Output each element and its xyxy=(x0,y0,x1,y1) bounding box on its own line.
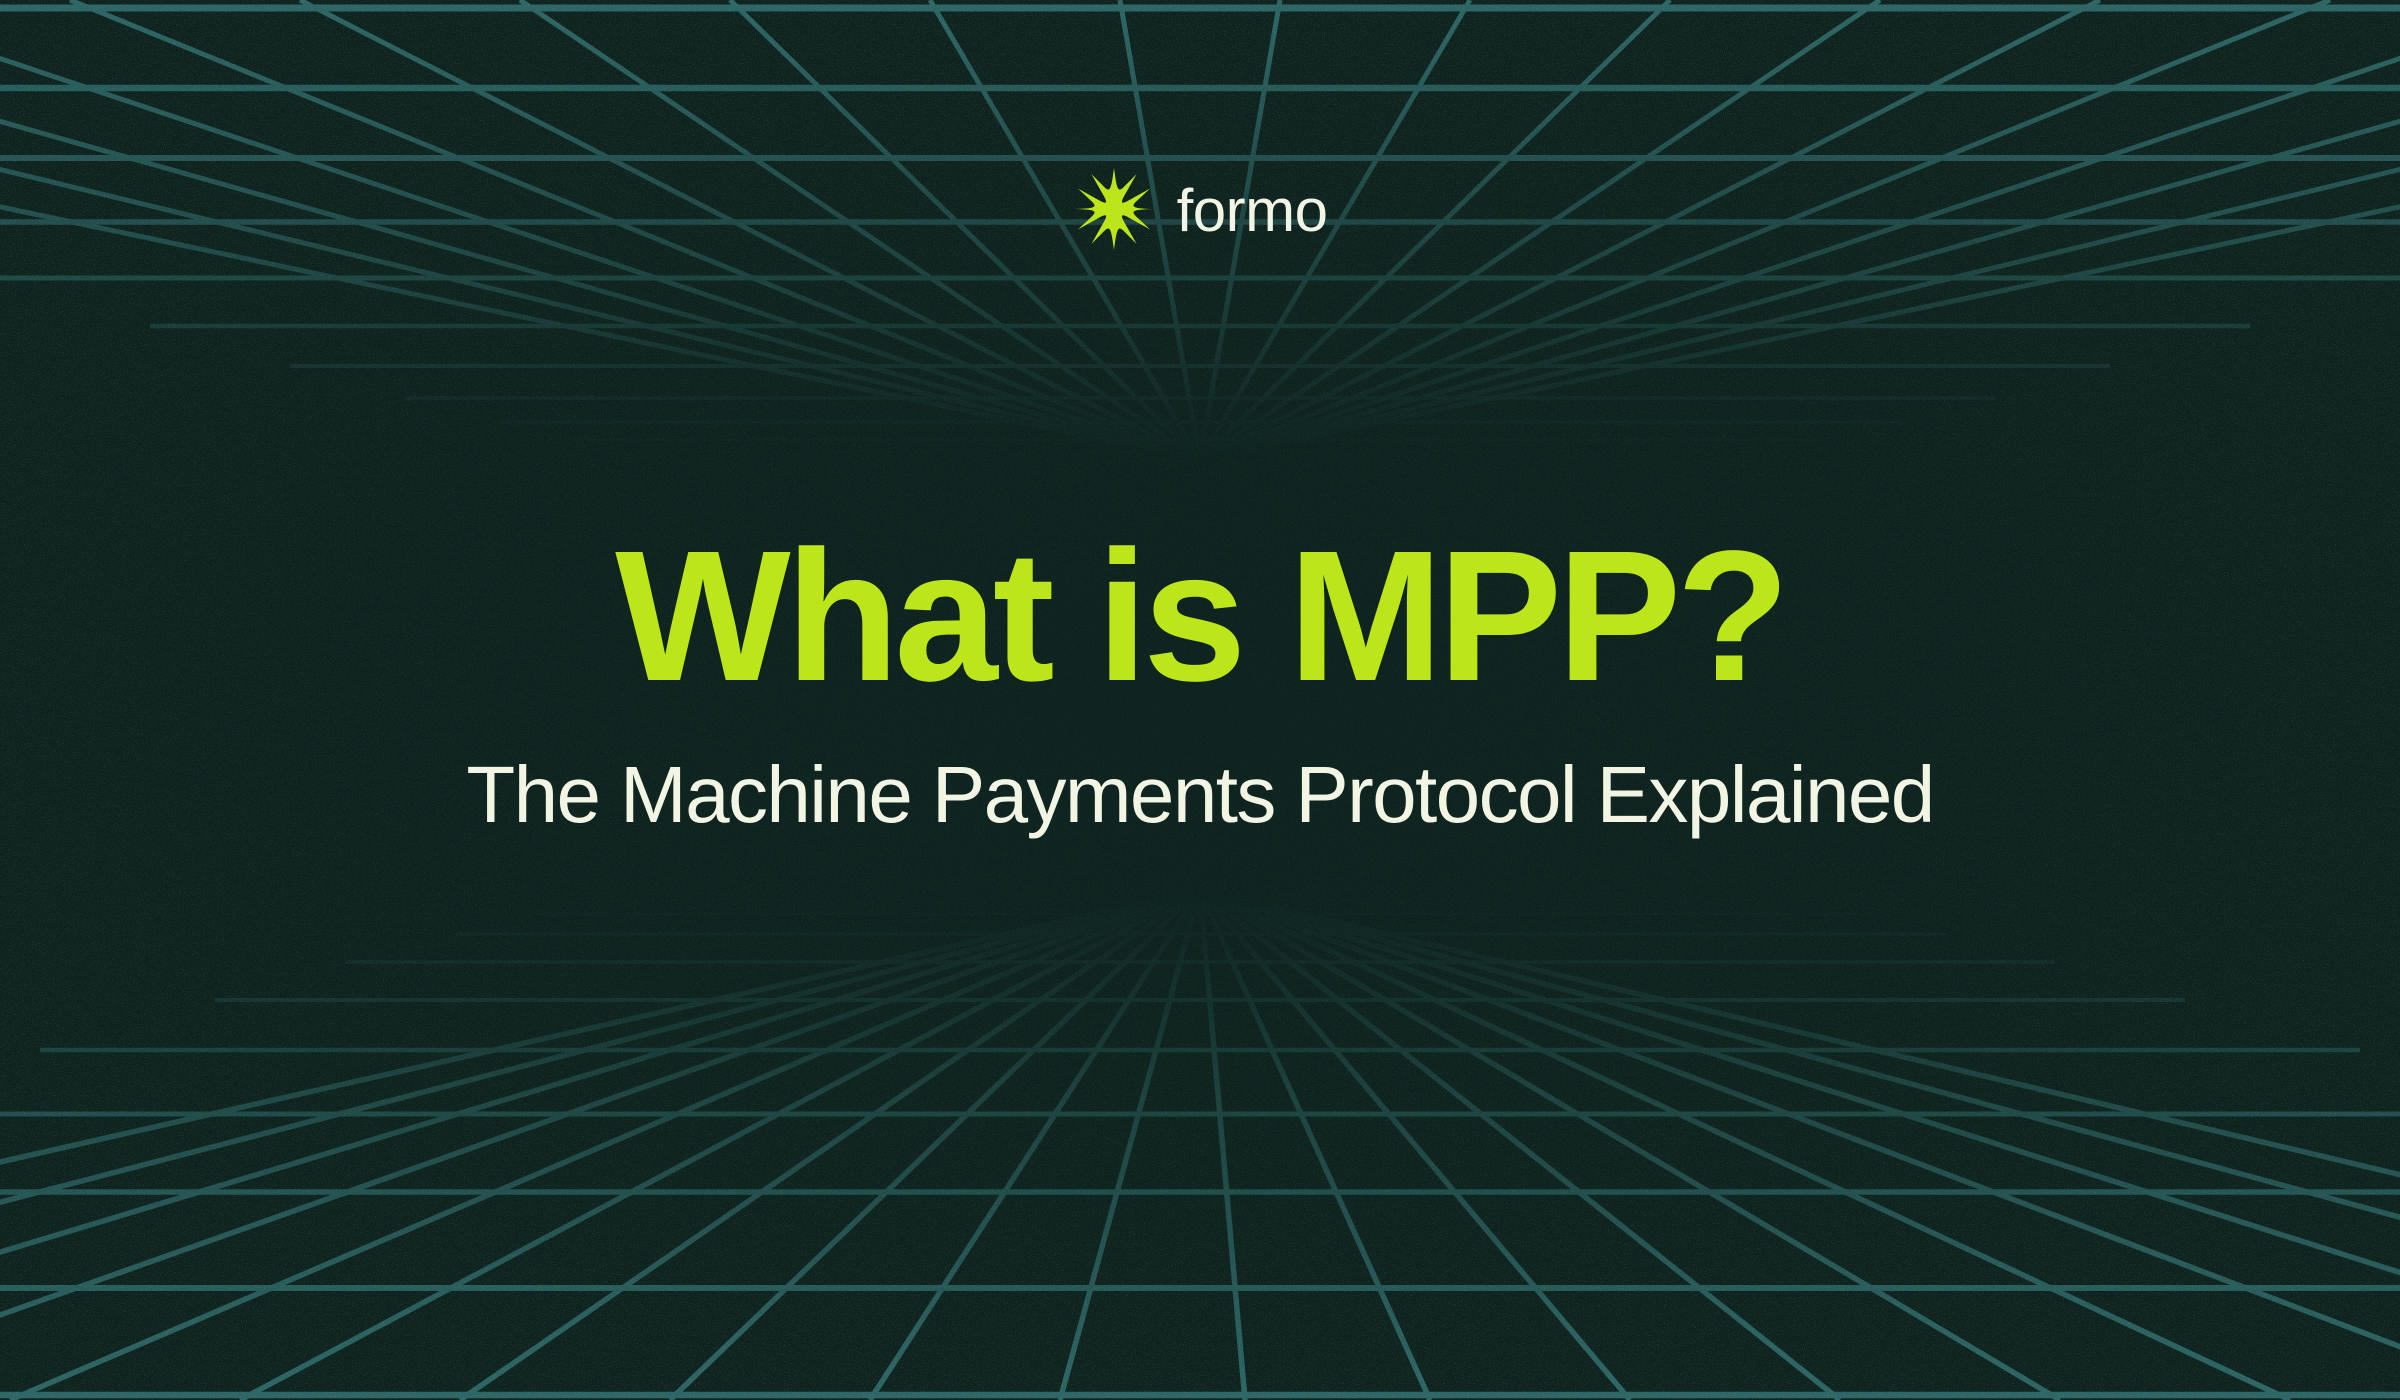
page-subtitle: The Machine Payments Protocol Explained xyxy=(0,749,2400,841)
slide-canvas: formo What is MPP? The Machine Payments … xyxy=(0,0,2400,1400)
page-title: What is MPP? xyxy=(0,520,2400,713)
brand-logo[interactable]: formo xyxy=(1073,168,1328,250)
hero-text-block: What is MPP? The Machine Payments Protoc… xyxy=(0,520,2400,841)
slide-content: formo What is MPP? The Machine Payments … xyxy=(0,0,2400,1400)
brand-name-text: formo xyxy=(1177,181,1328,241)
eight-point-star-icon xyxy=(1073,168,1155,250)
